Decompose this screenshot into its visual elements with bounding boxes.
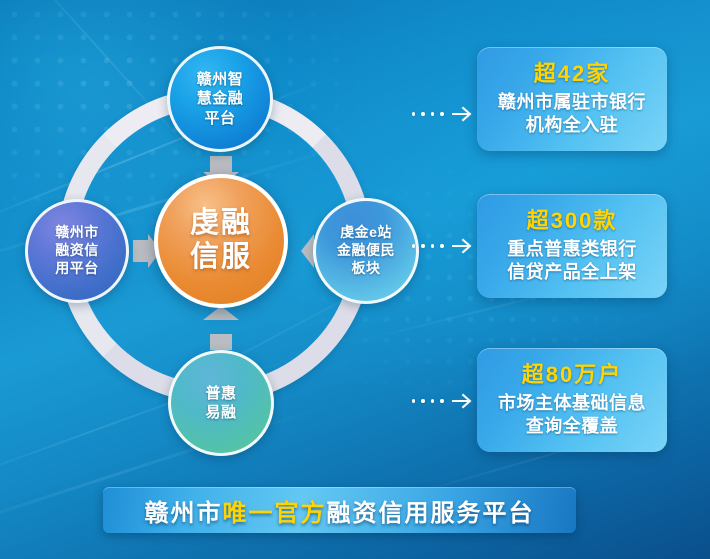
center-brand-node[interactable]: 虔融 信服: [154, 174, 288, 308]
node-qianjin-estation[interactable]: 虔金e站 金融便民 板块: [313, 198, 419, 304]
node-smart-finance-platform[interactable]: 赣州智 慧金融 平台: [167, 46, 273, 152]
node-label-line: 虔金e站: [340, 224, 392, 242]
stat-sub-line: 查询全覆盖: [526, 415, 619, 438]
stat-sub-line: 重点普惠类银行: [507, 238, 637, 261]
stat-card-entities[interactable]: 超80万户 市场主体基础信息 查询全覆盖: [477, 348, 667, 452]
banner-highlight: 唯一官方: [223, 500, 327, 527]
banner-suffix: 融资信用服务平台: [327, 500, 535, 527]
center-label-line: 信服: [190, 241, 252, 275]
stat-sub-line: 赣州市属驻市银行: [498, 91, 646, 114]
stat-headline: 超80万户: [522, 363, 622, 387]
infographic-canvas: 赣州智 慧金融 平台 赣州市 融资信 用平台 虔金e站 金融便民 板块 普惠 易…: [0, 0, 710, 559]
node-label-line: 易融: [205, 403, 236, 422]
banner-prefix: 赣州市: [145, 500, 223, 527]
stat-headline: 超300款: [527, 209, 618, 233]
dotted-arrow-icon: [412, 235, 474, 257]
dotted-arrow-icon: [412, 103, 474, 125]
node-label-line: 普惠: [205, 384, 236, 403]
stat-card-products[interactable]: 超300款 重点普惠类银行 信贷产品全上架: [477, 194, 667, 298]
banner-text: 赣州市唯一官方融资信用服务平台: [145, 493, 535, 528]
dotted-arrow-icon: [412, 390, 474, 412]
stat-sub-line: 信贷产品全上架: [507, 261, 637, 284]
stat-headline: 超42家: [534, 62, 610, 86]
node-credit-financing-platform[interactable]: 赣州市 融资信 用平台: [25, 199, 129, 303]
node-label-line: 融资信: [55, 242, 99, 260]
node-label-line: 用平台: [55, 260, 99, 278]
node-label-line: 赣州市: [55, 224, 99, 242]
node-label-line: 平台: [204, 109, 235, 128]
node-inclusive-finance[interactable]: 普惠 易融: [168, 350, 274, 456]
center-label-line: 虔融: [190, 207, 252, 241]
stat-sub-line: 机构全入驻: [526, 114, 619, 137]
node-label-line: 赣州智: [197, 70, 244, 89]
bottom-banner: 赣州市唯一官方融资信用服务平台: [103, 487, 576, 533]
node-label-line: 金融便民: [337, 242, 395, 260]
stat-card-banks[interactable]: 超42家 赣州市属驻市银行 机构全入驻: [477, 47, 667, 151]
node-label-line: 慧金融: [197, 89, 244, 108]
node-label-line: 板块: [352, 260, 381, 278]
stat-sub-line: 市场主体基础信息: [498, 392, 646, 415]
